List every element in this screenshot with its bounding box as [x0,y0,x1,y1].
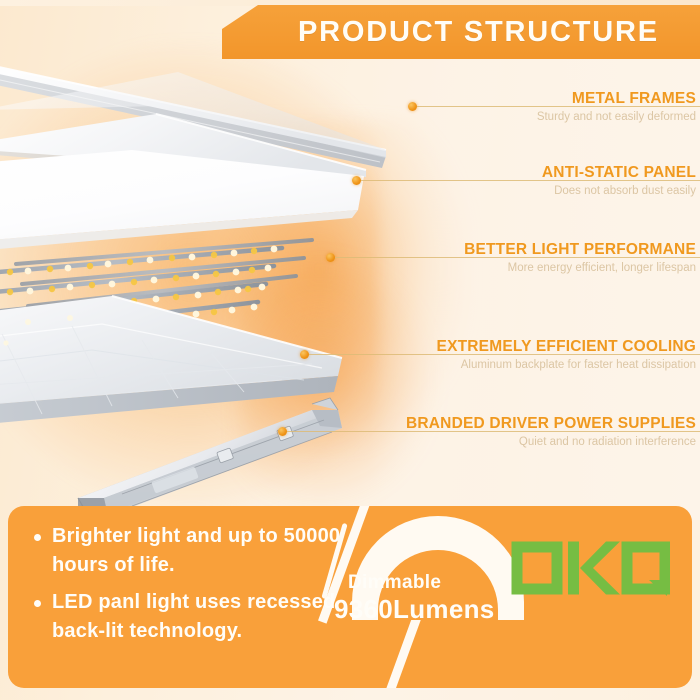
callout-title: BETTER LIGHT PERFORMANE [464,241,696,259]
callout-dot-icon [278,427,287,436]
header-banner-content: PRODUCT STRUCTURE [222,5,700,59]
callout-subtitle: Aluminum backplate for faster heat dissi… [461,359,696,371]
callout-title: BRANDED DRIVER POWER SUPPLIES [406,415,696,433]
list-item: Brighter light and up to 50000 hours of … [34,522,354,580]
bullet-text: LED panl light uses recessed back-lit te… [52,588,354,646]
callout-dot-icon [326,253,335,262]
callout-dot-icon [300,350,309,359]
callout-list: METAL FRAMES Sturdy and not easily defor… [300,86,700,446]
page-title: PRODUCT STRUCTURE [222,16,659,49]
badge-label: Dimmable [348,572,441,594]
layer-aluminum-backplate [0,296,342,430]
feature-bullet-list: Brighter light and up to 50000 hours of … [34,522,354,654]
dimmable-lumens-badge: Dimmable 9360Lumens [330,516,530,636]
callout-dot-icon [352,176,361,185]
callout-title: ANTI-STATIC PANEL [542,164,696,182]
brand-logo-okq [510,540,670,596]
bullet-dot-icon [34,600,41,607]
bullet-dot-icon [34,534,41,541]
callout-subtitle: Quiet and no radiation interference [519,436,696,448]
callout-title: EXTREMELY EFFICIENT COOLING [437,338,696,356]
list-item: LED panl light uses recessed back-lit te… [34,588,354,646]
callout-title: METAL FRAMES [572,90,696,108]
callout-subtitle: More energy efficient, longer lifespan [508,262,696,274]
badge-value: 9360Lumens [334,594,495,625]
callout-subtitle: Does not absorb dust easily [554,185,696,197]
infographic-canvas: PRODUCT STRUCTURE [0,0,700,700]
callout-dot-icon [408,102,417,111]
bullet-text: Brighter light and up to 50000 hours of … [52,522,354,580]
callout-subtitle: Sturdy and not easily deformed [537,111,696,123]
